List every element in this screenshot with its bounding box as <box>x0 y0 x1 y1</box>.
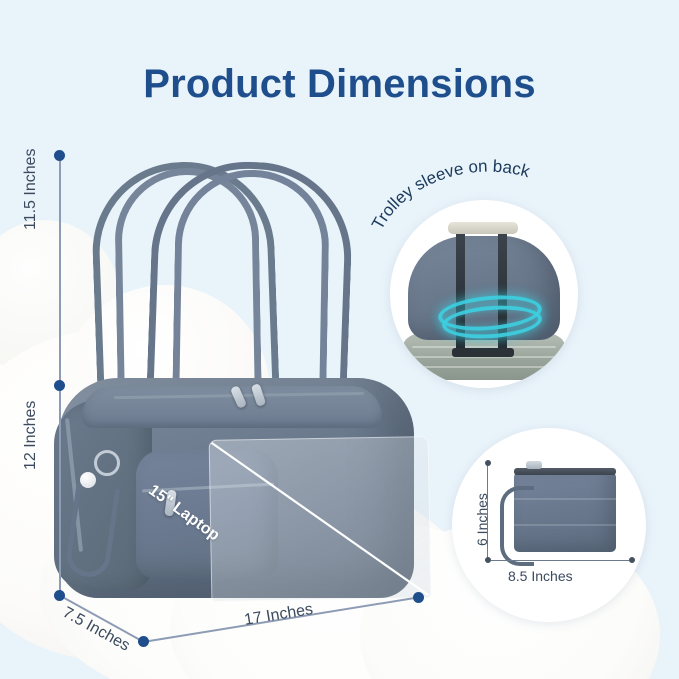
dimension-endpoint-dot <box>138 636 149 647</box>
dimension-endpoint-dot <box>413 592 424 603</box>
dimension-endpoint-dot <box>54 150 65 161</box>
pouch-photo-circle: 6 Inches 8.5 Inches <box>452 428 646 622</box>
page-title: Product Dimensions <box>0 62 679 107</box>
pouch-dimension-endpoint <box>629 557 635 563</box>
d-ring-icon <box>94 450 120 476</box>
pouch-zipper-pull-icon <box>526 461 542 469</box>
trolley-handle-base <box>452 348 514 357</box>
pouch-wrist-strap <box>500 486 534 566</box>
height-lower-label: 12 Inches <box>22 401 40 470</box>
trolley-handle-grip <box>448 222 518 234</box>
trolley-photo-circle <box>390 200 578 388</box>
pouch-dimensions-inset: 6 Inches 8.5 Inches <box>452 428 646 622</box>
pouch-dimension-endpoint <box>485 460 491 466</box>
suitcase-illustration <box>402 334 566 380</box>
pouch-width-label: 8.5 Inches <box>508 568 573 584</box>
height-upper-label: 11.5 Inches <box>22 148 40 230</box>
trolley-sleeve-inset: Trolley sleeve on back <box>390 200 578 388</box>
laptop-overlay <box>209 436 432 602</box>
dimension-endpoint-dot <box>54 590 65 601</box>
height-dimension-line <box>59 156 61 596</box>
pouch-zipper-icon <box>514 468 616 475</box>
pouch-dimension-endpoint <box>485 557 491 563</box>
product-dimensions-infographic: Product Dimensions 15" Laptop <box>0 0 679 679</box>
laptop-diagonal-line <box>210 437 431 601</box>
pouch-height-label: 6 Inches <box>474 493 490 546</box>
suitcase-rib <box>412 366 556 368</box>
dimension-endpoint-dot <box>54 380 65 391</box>
pouch-width-line <box>487 560 632 561</box>
